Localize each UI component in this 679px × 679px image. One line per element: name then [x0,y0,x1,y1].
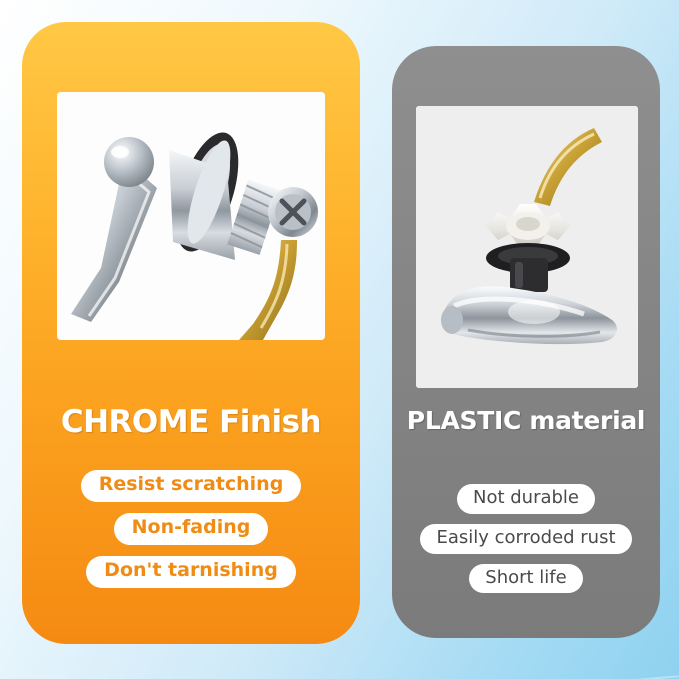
plastic-product-photo [416,106,638,388]
chrome-bullet-2: Non-fading [114,513,269,545]
chrome-panel-title: CHROME Finish [22,404,360,440]
chrome-bullet-1: Resist scratching [81,470,302,502]
plastic-panel-title: PLASTIC material [392,406,660,435]
plastic-bullet-list: Not durable Easily corroded rust Short l… [392,484,660,593]
chrome-panel: CHROME Finish Resist scratching Non-fadi… [22,22,360,644]
plastic-bullet-3: Short life [469,564,582,594]
chrome-bullet-3: Don't tarnishing [86,556,296,588]
plastic-panel: PLASTIC material Not durable Easily corr… [392,46,660,638]
chrome-bullet-list: Resist scratching Non-fading Don't tarni… [22,470,360,588]
comparison-infographic: CHROME Finish Resist scratching Non-fadi… [0,0,679,679]
chrome-product-photo [57,92,325,340]
plastic-bullet-1: Not durable [457,484,595,514]
plastic-bullet-2: Easily corroded rust [420,524,631,554]
